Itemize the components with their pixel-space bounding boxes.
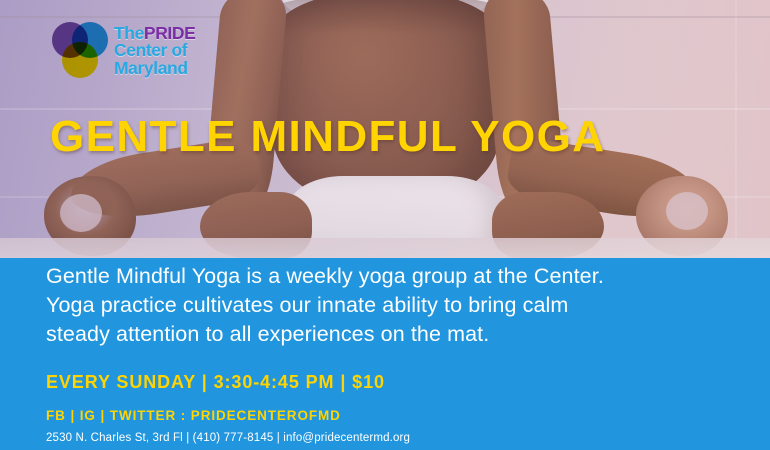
mudra-opening	[666, 192, 708, 230]
mudra-opening	[60, 194, 102, 232]
description-text: Gentle Mindful Yoga is a weekly yoga gro…	[46, 262, 746, 349]
social-handles: FB | IG | TWITTER : PRIDECENTEROFMD	[46, 408, 341, 423]
logo-line-3: Maryland	[114, 60, 195, 78]
description-line-1: Gentle Mindful Yoga is a weekly yoga gro…	[46, 262, 746, 291]
pride-center-logo: ThePRIDE Center of Maryland	[52, 22, 195, 80]
schedule-details: EVERY SUNDAY | 3:30-4:45 PM | $10	[46, 372, 385, 393]
description-line-2: Yoga practice cultivates our innate abil…	[46, 291, 746, 320]
logo-circles-icon	[52, 22, 108, 80]
description-line-3: steady attention to all experiences on t…	[46, 320, 746, 349]
contact-info: 2530 N. Charles St, 3rd Fl | (410) 777-8…	[46, 432, 410, 444]
wall-seam-vertical	[735, 0, 737, 262]
torso-shadow	[272, 0, 500, 34]
info-panel: Gentle Mindful Yoga is a weekly yoga gro…	[0, 258, 770, 450]
logo-wordmark: ThePRIDE Center of Maryland	[114, 25, 195, 78]
page-title: GENTLE MINDFUL YOGA	[50, 112, 605, 162]
logo-circle-yellow	[62, 42, 98, 78]
flyer-poster: ThePRIDE Center of Maryland GENTLE MINDF…	[0, 0, 770, 450]
